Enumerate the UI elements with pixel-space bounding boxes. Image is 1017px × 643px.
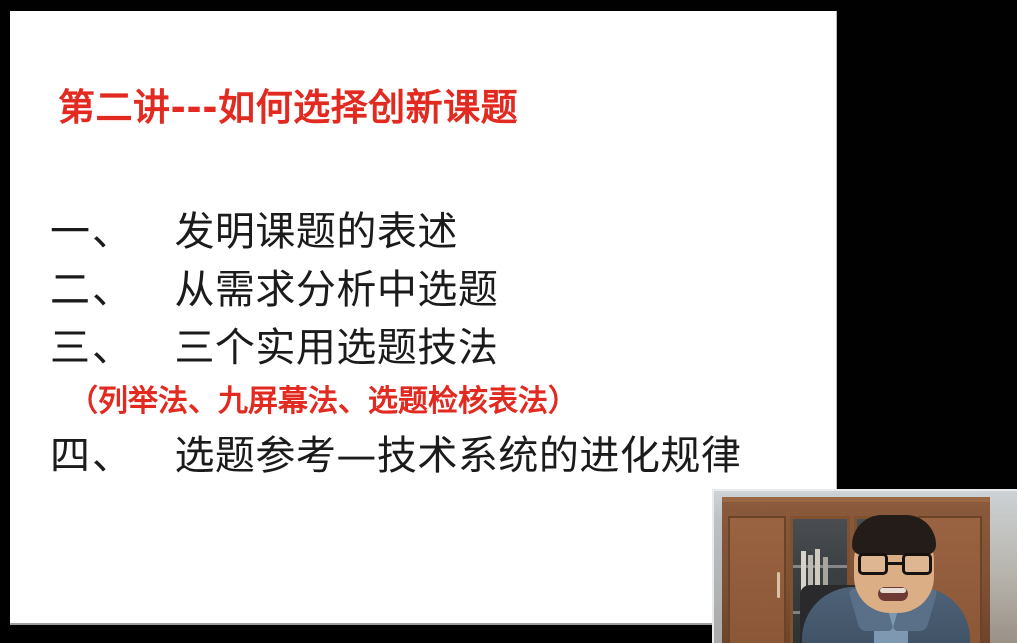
slide-subnote-text: （列举法、九屏幕法、选题检核表法） (68, 384, 578, 419)
presenter-hair (852, 515, 936, 555)
slide-bullet-3: 三、 三个实用选题技法 (50, 319, 837, 377)
slide-bullet-2-marker: 二、 (50, 267, 134, 313)
slide-bullet-1-marker: 一、 (50, 209, 134, 255)
slide-bullet-2: 二、 从需求分析中选题 (50, 261, 837, 319)
slide-subnote: （列举法、九屏幕法、选题检核表法） (50, 377, 837, 427)
glasses-bridge (888, 562, 902, 565)
presenter-glasses-icon (858, 553, 932, 575)
slide-bullet-1: 一、 发明课题的表述 (50, 203, 837, 261)
slide-body: 一、 发明课题的表述 二、 从需求分析中选题 三、 三个实用选题技法 （列举法、… (50, 203, 837, 485)
glasses-lens-right (902, 553, 932, 575)
slide-title: 第二讲---如何选择创新课题 (58, 87, 518, 130)
slide-bullet-3-marker: 三、 (50, 325, 134, 371)
presenter-video-overlay[interactable] (712, 489, 1017, 643)
player-screen: 第二讲---如何选择创新课题 一、 发明课题的表述 二、 从需求分析中选题 三、… (0, 0, 1017, 643)
glasses-lens-left (858, 553, 888, 575)
cabinet-handle-left (777, 572, 780, 598)
presenter-teeth (880, 588, 906, 593)
slide-bullet-4: 四、 选题参考—技术系统的进化规律 (50, 427, 837, 485)
slide-bullet-3-text: 三个实用选题技法 (174, 325, 498, 371)
slide-bullet-2-text: 从需求分析中选题 (174, 267, 498, 313)
cabinet-door-left (728, 516, 786, 643)
slide-bullet-1-text: 发明课题的表述 (174, 209, 458, 255)
slide-bullet-4-marker: 四、 (50, 433, 134, 479)
slide-bullet-4-text: 选题参考—技术系统的进化规律 (174, 433, 741, 479)
